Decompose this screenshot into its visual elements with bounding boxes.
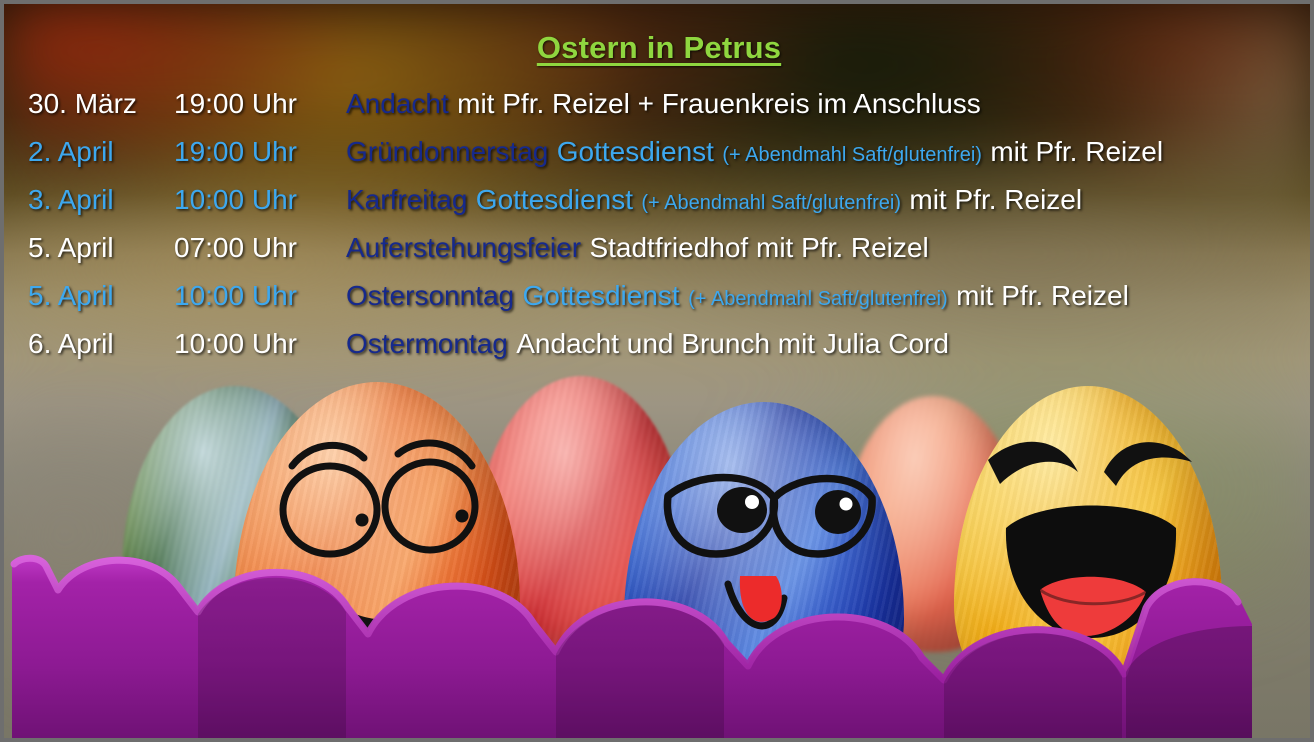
event-description: Ostersonntag Gottesdienst (+ Abendmahl S… — [346, 272, 1310, 323]
description-segment: mit Pfr. Reizel — [909, 184, 1082, 215]
event-description: Gründonnerstag Gottesdienst (+ Abendmahl… — [346, 128, 1310, 179]
segment-spacer — [680, 272, 688, 320]
schedule-row: 5. April07:00 UhrAuferstehungsfeier Stad… — [28, 224, 1310, 272]
event-description: Auferstehungsfeier Stadtfriedhof mit Pfr… — [346, 224, 1310, 272]
event-time: 10:00 Uhr — [174, 176, 346, 224]
event-time: 19:00 Uhr — [174, 128, 346, 176]
event-time: 10:00 Uhr — [174, 272, 346, 320]
segment-spacer — [467, 176, 475, 224]
event-date: 5. April — [28, 272, 174, 320]
egg-carton — [4, 514, 1310, 738]
event-time: 19:00 Uhr — [174, 80, 346, 128]
description-segment: Ostermontag — [346, 328, 508, 359]
easter-poster: Ostern in Petrus 30. März19:00 UhrAndach… — [0, 0, 1314, 742]
description-segment: mit Pfr. Reizel + Frauenkreis im Anschlu… — [457, 88, 981, 119]
segment-spacer — [514, 272, 522, 320]
description-segment: (+ Abendmahl Saft/glutenfrei) — [641, 192, 901, 214]
segment-spacer — [548, 128, 556, 176]
event-date: 30. März — [28, 80, 174, 128]
event-date: 5. April — [28, 224, 174, 272]
description-segment: Gottesdienst — [557, 136, 714, 167]
description-segment: Auferstehungsfeier — [346, 232, 581, 263]
description-segment: (+ Abendmahl Saft/glutenfrei) — [688, 288, 948, 310]
event-description: Ostermontag Andacht und Brunch mit Julia… — [346, 320, 1310, 368]
description-segment: (+ Abendmahl Saft/glutenfrei) — [722, 144, 982, 166]
description-segment: mit Pfr. Reizel — [956, 280, 1129, 311]
description-segment: Stadtfriedhof mit Pfr. Reizel — [589, 232, 928, 263]
description-segment: Andacht — [346, 88, 449, 119]
description-segment: Gottesdienst — [476, 184, 633, 215]
event-date: 3. April — [28, 176, 174, 224]
description-segment: Ostersonntag — [346, 280, 514, 311]
schedule-row: 2. April19:00 UhrGründonnerstag Gottesdi… — [28, 128, 1310, 176]
event-date: 6. April — [28, 320, 174, 368]
schedule-row: 5. April10:00 UhrOstersonntag Gottesdien… — [28, 272, 1310, 320]
event-time: 10:00 Uhr — [174, 320, 346, 368]
description-segment: Andacht und Brunch mit Julia Cord — [516, 328, 949, 359]
segment-spacer — [948, 272, 956, 320]
schedule-row: 3. April10:00 UhrKarfreitag Gottesdienst… — [28, 176, 1310, 224]
page-title: Ostern in Petrus — [4, 30, 1310, 66]
segment-spacer — [449, 80, 457, 128]
event-time: 07:00 Uhr — [174, 224, 346, 272]
text-overlay: Ostern in Petrus 30. März19:00 UhrAndach… — [4, 4, 1310, 368]
event-description: Karfreitag Gottesdienst (+ Abendmahl Saf… — [346, 176, 1310, 227]
description-segment: Gründonnerstag — [346, 136, 548, 167]
description-segment: mit Pfr. Reizel — [990, 136, 1163, 167]
description-segment: Karfreitag — [346, 184, 467, 215]
schedule-list: 30. März19:00 UhrAndacht mit Pfr. Reizel… — [4, 80, 1310, 368]
event-date: 2. April — [28, 128, 174, 176]
event-description: Andacht mit Pfr. Reizel + Frauenkreis im… — [346, 80, 1310, 128]
description-segment: Gottesdienst — [523, 280, 680, 311]
segment-spacer — [508, 320, 516, 368]
schedule-row: 30. März19:00 UhrAndacht mit Pfr. Reizel… — [28, 80, 1310, 128]
schedule-row: 6. April10:00 UhrOstermontag Andacht und… — [28, 320, 1310, 368]
